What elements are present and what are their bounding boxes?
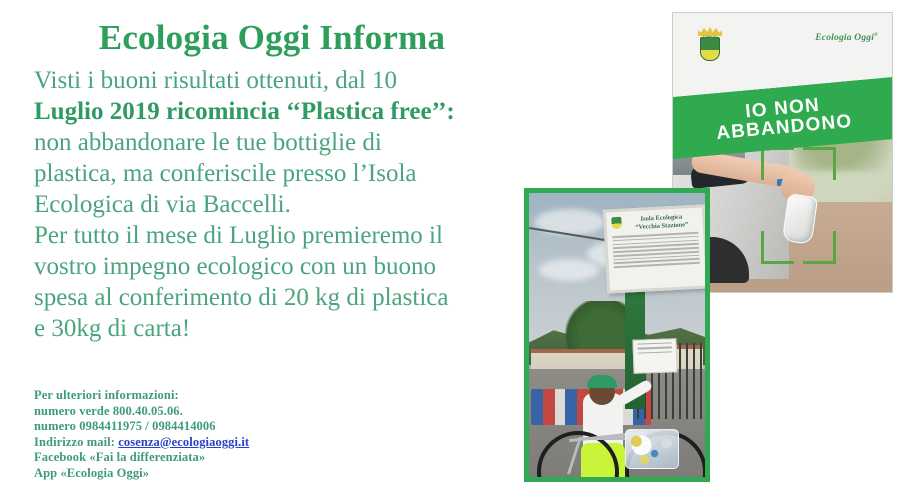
sign-body-lines xyxy=(612,232,700,270)
contact-block: Per ulteriori informazioni: numero verde… xyxy=(34,388,364,481)
body-line-1: Visti i buoni risultati ottenuti, dal 10 xyxy=(34,65,504,96)
page-title: Ecologia Oggi Informa xyxy=(34,18,504,57)
body-line-2-highlight: Luglio 2019 ricomincia ‘‘Plastica free’’… xyxy=(34,96,504,127)
sign-title: Isola Ecologica “Vecchia Stazione” xyxy=(624,213,699,232)
focus-bracket-bottom-right-icon xyxy=(803,231,836,264)
body-line-6: Per tutto il mese di Luglio premieremo i… xyxy=(34,220,504,251)
body-line-9: e 30kg di carta! xyxy=(34,313,504,344)
crest-label-line1: Città di xyxy=(703,35,719,40)
contact-info-label: Per ulteriori informazioni: xyxy=(34,388,364,404)
information-sign: Isola Ecologica “Vecchia Stazione” xyxy=(603,204,709,293)
ribbon-line-2: ABBANDONO xyxy=(716,112,854,143)
bottle-caps xyxy=(626,430,678,468)
sign-text-line xyxy=(638,342,672,345)
poster-page: Ecologia Oggi Informa Visti i buoni risu… xyxy=(0,0,901,500)
bags-of-plastic-bottles xyxy=(625,429,679,469)
ribbon-line-1: IO NON xyxy=(745,96,821,122)
body-line-3: non abbandonare le tue bottiglie di xyxy=(34,127,504,158)
sign-title-line-2: “Vecchia Stazione” xyxy=(635,221,688,231)
focus-bracket-top-right-icon xyxy=(803,147,836,180)
contact-mail-link[interactable]: cosenza@ecologiaoggi.it xyxy=(118,435,249,449)
contact-facebook: Facebook «Fai la differenziata» xyxy=(34,450,364,466)
crest-label-line2: Cosenza xyxy=(703,40,719,45)
text-column: Ecologia Oggi Informa Visti i buoni risu… xyxy=(34,18,504,344)
focus-bracket-top-left-icon xyxy=(761,147,794,180)
photo-isola-ecologica: Isola Ecologica “Vecchia Stazione” xyxy=(524,188,710,482)
body-paragraph: Visti i buoni risultati ottenuti, dal 10… xyxy=(34,65,504,344)
ecologia-oggi-logo-text: Ecologia Oggi xyxy=(815,33,874,43)
contact-app: App «Ecologia Oggi» xyxy=(34,466,364,482)
sign-crest-icon xyxy=(611,217,622,230)
body-line-4: plastica, ma conferiscile presso l’Isola xyxy=(34,158,504,189)
focus-bracket-bottom-left-icon xyxy=(761,231,794,264)
contact-mail-label: Indirizzo mail: xyxy=(34,435,115,449)
ecologia-oggi-logo: Ecologia Oggi® xyxy=(815,33,878,43)
secondary-sign xyxy=(632,338,677,374)
body-line-7: vostro impegno ecologico con un buono xyxy=(34,251,504,282)
crest-label: Città di Cosenza xyxy=(703,35,719,44)
contact-mail-row: Indirizzo mail: cosenza@ecologiaoggi.it xyxy=(34,435,364,451)
registered-mark-icon: ® xyxy=(874,33,878,38)
body-line-5: Ecologica di via Baccelli. xyxy=(34,189,504,220)
sign-text-line xyxy=(638,347,672,350)
contact-phones: numero 0984411975 / 0984414006 xyxy=(34,419,364,435)
cloud xyxy=(539,259,599,281)
body-line-8: spesa al conferimento di 20 kg di plasti… xyxy=(34,282,504,313)
sign-text-line xyxy=(638,351,672,354)
green-cap xyxy=(587,375,617,388)
contact-toll-free: numero verde 800.40.05.06. xyxy=(34,404,364,420)
